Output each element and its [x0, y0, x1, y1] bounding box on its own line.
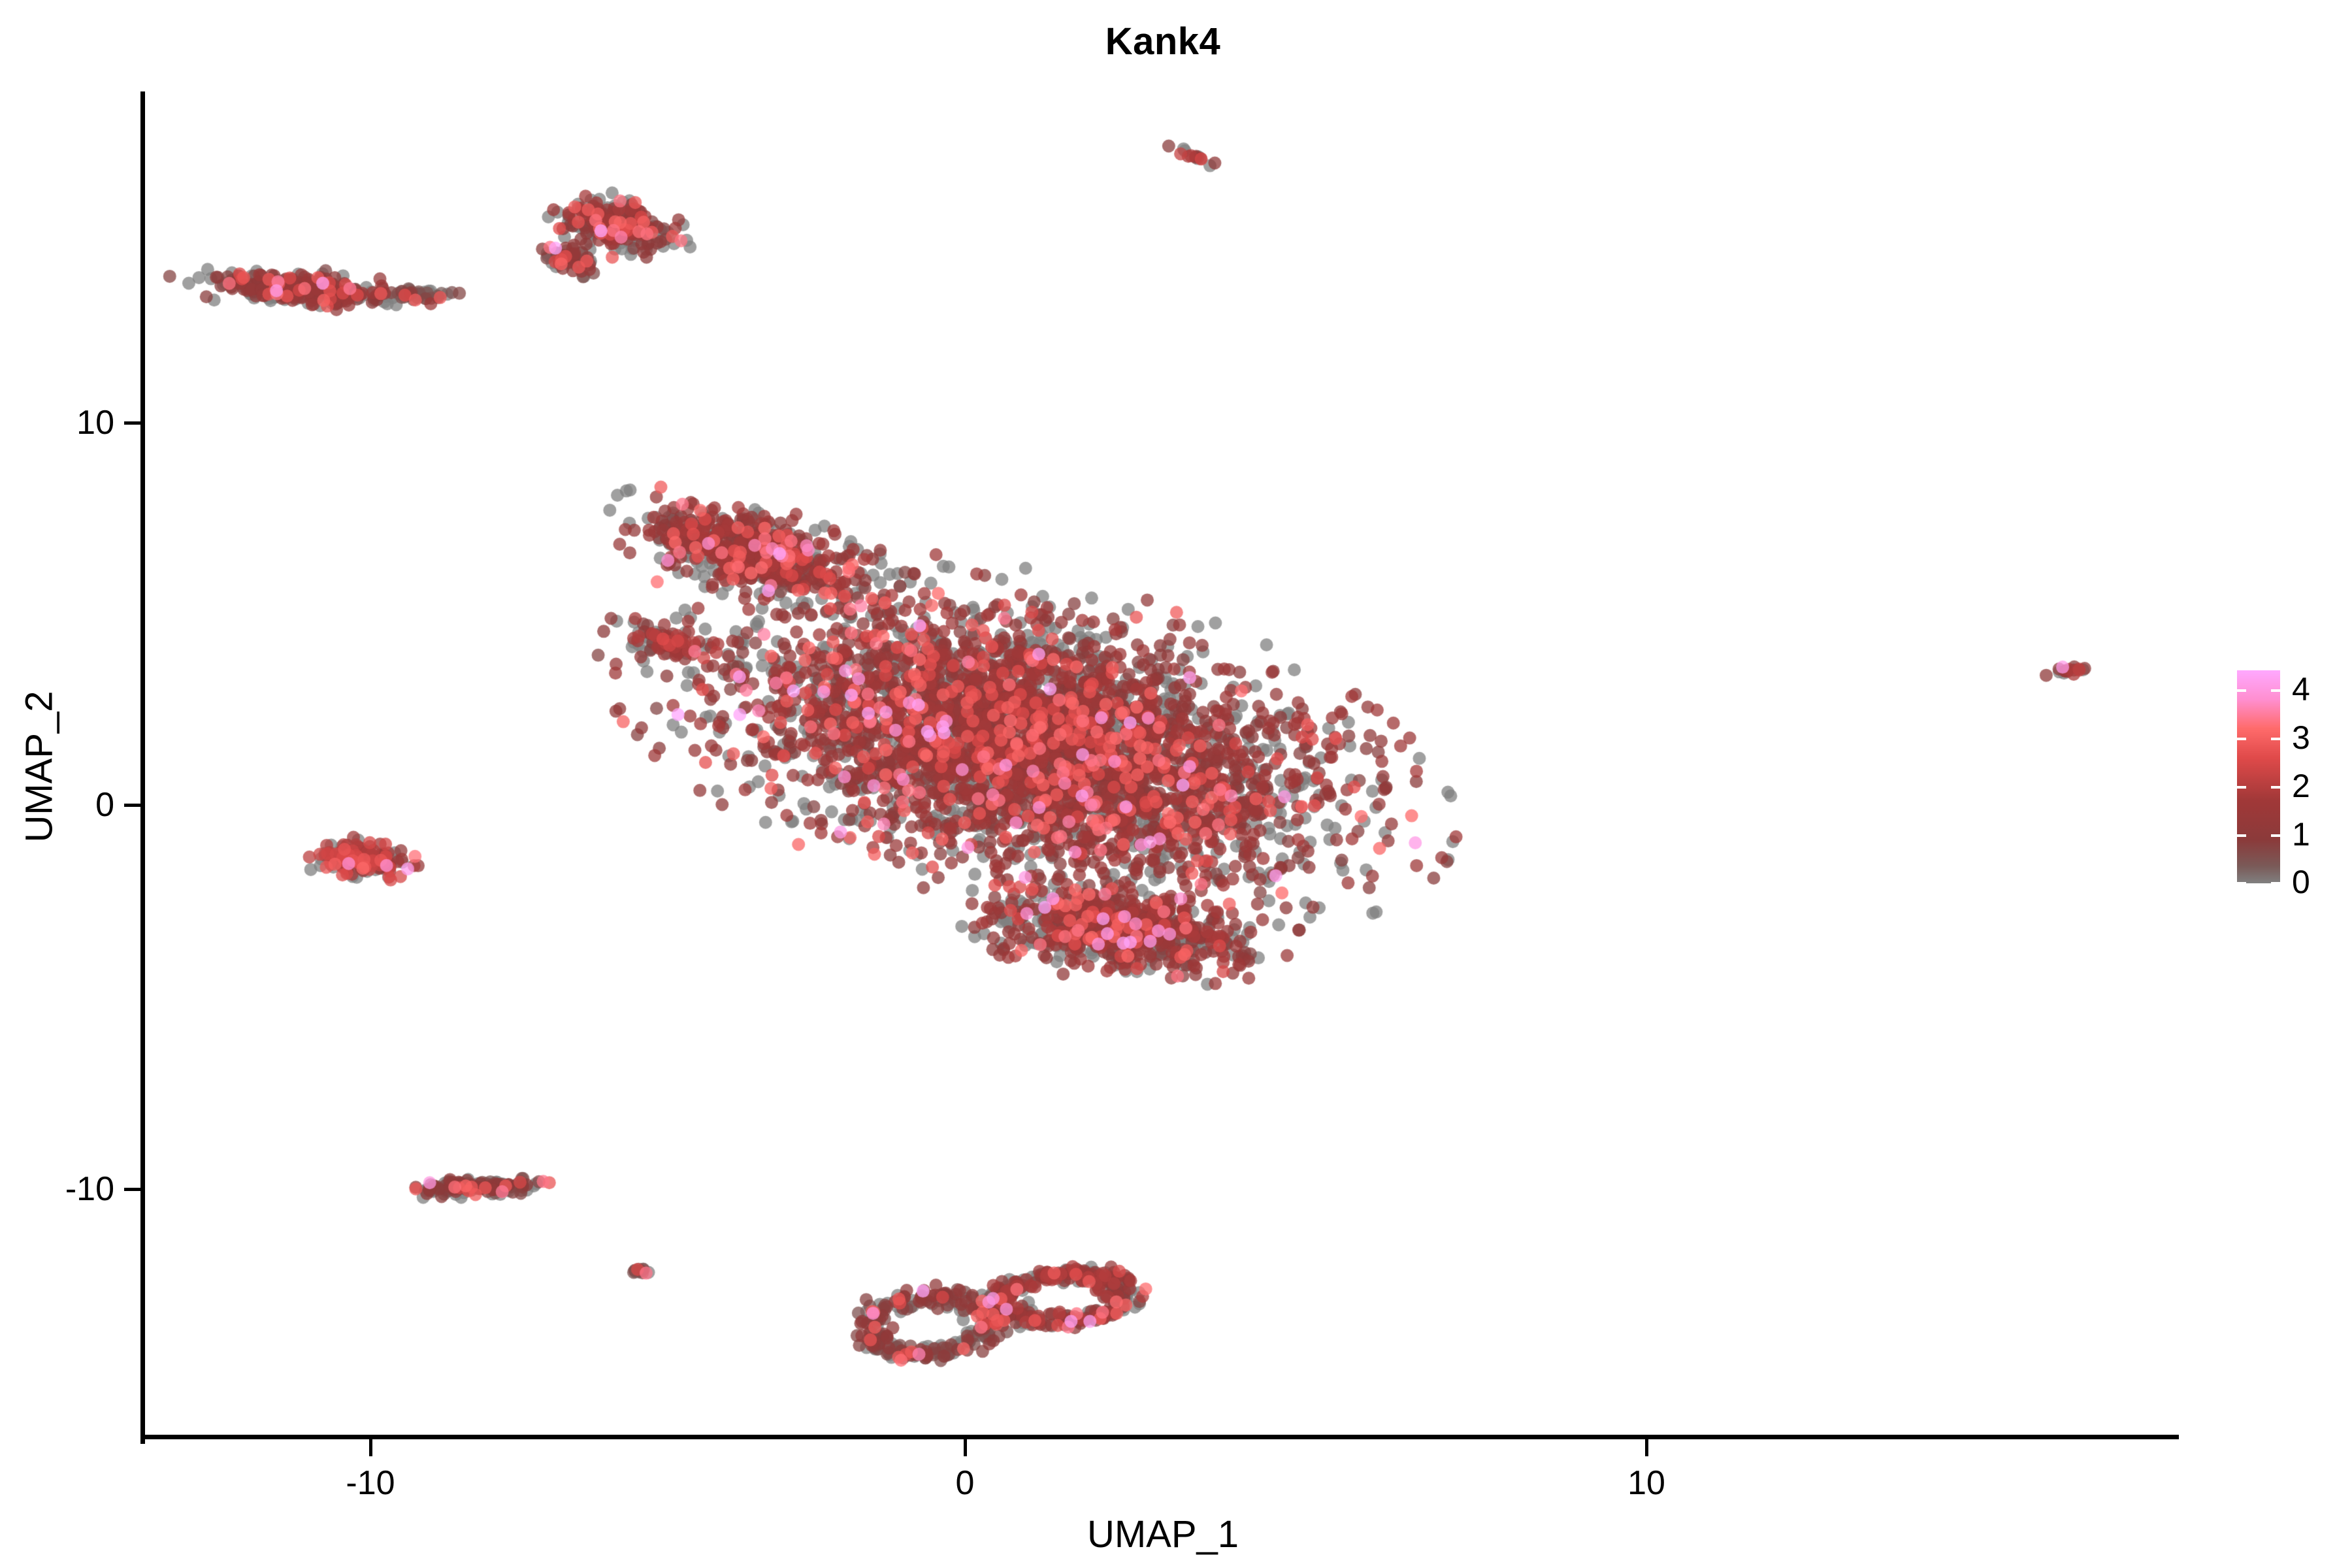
y-axis-label: UMAP_2 — [18, 597, 61, 937]
y-axis-line — [140, 91, 145, 1444]
x-tick-mark-2 — [1645, 1439, 1648, 1456]
colorbar-tick-right-0 — [2271, 882, 2280, 885]
x-axis-line — [140, 1435, 2179, 1439]
colorbar-tick-left-0 — [2237, 882, 2246, 885]
colorbar-tick-left-2 — [2237, 786, 2246, 789]
colorbar-legend: 4 3 2 1 0 — [2237, 670, 2280, 883]
x-axis-label-text: UMAP_1 — [1087, 1512, 1239, 1556]
colorbar-tick-left-3 — [2237, 738, 2246, 740]
colorbar-label-0: 0 — [2292, 863, 2310, 901]
y-axis-label-text: UMAP_2 — [18, 691, 61, 842]
x-tick-mark-1 — [964, 1439, 967, 1456]
colorbar-label-3: 3 — [2292, 719, 2310, 757]
colorbar-tick-left-1 — [2237, 834, 2246, 837]
colorbar-label-2: 2 — [2292, 767, 2310, 805]
x-tick-label-2: 10 — [1627, 1463, 1665, 1503]
colorbar-tick-right-4 — [2271, 689, 2280, 692]
colorbar-label-4: 4 — [2292, 670, 2310, 708]
page-title: Kank4 — [0, 20, 2352, 63]
x-axis-label: UMAP_1 — [0, 1512, 2352, 1556]
umap-feature-plot: Kank4 -10 0 10 10 0 -10 UMAP_1 UMAP_2 4 … — [0, 0, 2352, 1568]
x-tick-label-0: -10 — [346, 1463, 395, 1503]
x-tick-mark-0 — [369, 1439, 372, 1456]
colorbar-label-1: 1 — [2292, 815, 2310, 853]
scatter-canvas — [144, 91, 2176, 1439]
y-tick-mark-2 — [124, 1188, 141, 1191]
y-tick-label-0: 10 — [0, 403, 114, 442]
colorbar-gradient — [2237, 670, 2280, 883]
colorbar-tick-right-3 — [2271, 738, 2280, 740]
plot-panel — [144, 91, 2176, 1439]
colorbar-tick-right-1 — [2271, 834, 2280, 837]
y-tick-mark-1 — [124, 804, 141, 807]
colorbar-tick-left-4 — [2237, 689, 2246, 692]
plot-title-text: Kank4 — [1105, 20, 1221, 63]
y-tick-mark-0 — [124, 421, 141, 425]
colorbar-tick-right-2 — [2271, 786, 2280, 789]
x-tick-label-1: 0 — [956, 1463, 975, 1503]
y-tick-label-2: -10 — [0, 1169, 114, 1209]
